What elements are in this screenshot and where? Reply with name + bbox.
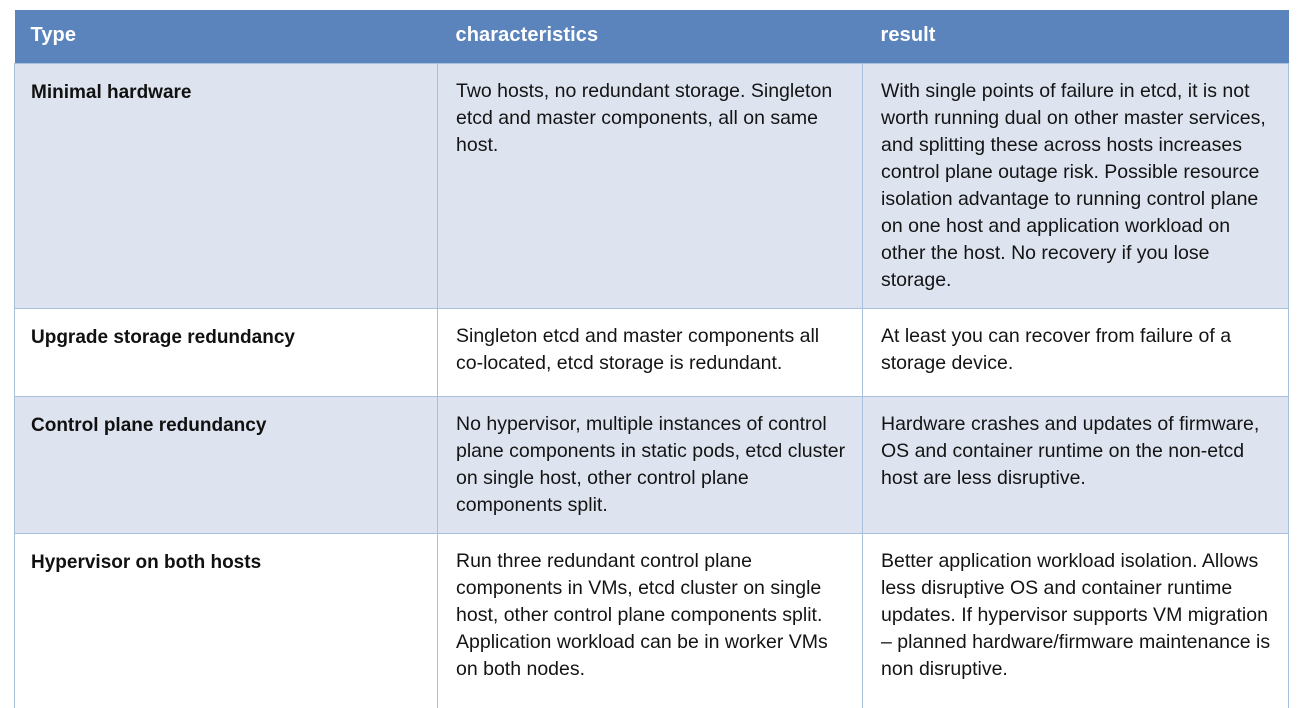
cluster-topology-table: Type characteristics result Minimal hard… xyxy=(14,10,1289,708)
cell-characteristics-text: Run three redundant control plane compon… xyxy=(456,548,848,683)
table-row: Hypervisor on both hosts Run three redun… xyxy=(15,534,1289,708)
cell-result: Better application workload isolation. A… xyxy=(863,534,1289,708)
cell-result-text: With single points of failure in etcd, i… xyxy=(881,78,1274,294)
cell-type-text: Upgrade storage redundancy xyxy=(31,324,421,351)
cell-result: With single points of failure in etcd, i… xyxy=(863,64,1289,309)
cell-result: Hardware crashes and updates of firmware… xyxy=(863,397,1289,534)
cell-characteristics-text: Two hosts, no redundant storage. Singlet… xyxy=(456,78,848,159)
column-header-result[interactable]: result xyxy=(863,10,1289,64)
table-header: Type characteristics result xyxy=(15,10,1289,64)
cell-type: Upgrade storage redundancy xyxy=(15,309,438,397)
cell-characteristics: Run three redundant control plane compon… xyxy=(438,534,863,708)
cell-type-text: Hypervisor on both hosts xyxy=(31,549,421,576)
cell-type: Minimal hardware xyxy=(15,64,438,309)
cell-type-text: Minimal hardware xyxy=(31,79,421,106)
cell-type: Hypervisor on both hosts xyxy=(15,534,438,708)
table-header-row: Type characteristics result xyxy=(15,10,1289,64)
table-row: Control plane redundancy No hypervisor, … xyxy=(15,397,1289,534)
column-header-type[interactable]: Type xyxy=(15,10,438,64)
cell-characteristics-text: No hypervisor, multiple instances of con… xyxy=(456,411,848,519)
cell-type-text: Control plane redundancy xyxy=(31,412,421,439)
table-row: Minimal hardware Two hosts, no redundant… xyxy=(15,64,1289,309)
column-header-characteristics[interactable]: characteristics xyxy=(438,10,863,64)
page-root: Type characteristics result Minimal hard… xyxy=(0,0,1302,708)
table-row: Upgrade storage redundancy Singleton etc… xyxy=(15,309,1289,397)
cell-result-text: At least you can recover from failure of… xyxy=(881,323,1274,377)
cell-characteristics: Two hosts, no redundant storage. Singlet… xyxy=(438,64,863,309)
cell-characteristics: Singleton etcd and master components all… xyxy=(438,309,863,397)
cell-result-text: Hardware crashes and updates of firmware… xyxy=(881,411,1274,492)
cell-type: Control plane redundancy xyxy=(15,397,438,534)
cell-result-text: Better application workload isolation. A… xyxy=(881,548,1274,683)
table-body: Minimal hardware Two hosts, no redundant… xyxy=(15,64,1289,708)
cell-characteristics-text: Singleton etcd and master components all… xyxy=(456,323,848,377)
cell-result: At least you can recover from failure of… xyxy=(863,309,1289,397)
cell-characteristics: No hypervisor, multiple instances of con… xyxy=(438,397,863,534)
